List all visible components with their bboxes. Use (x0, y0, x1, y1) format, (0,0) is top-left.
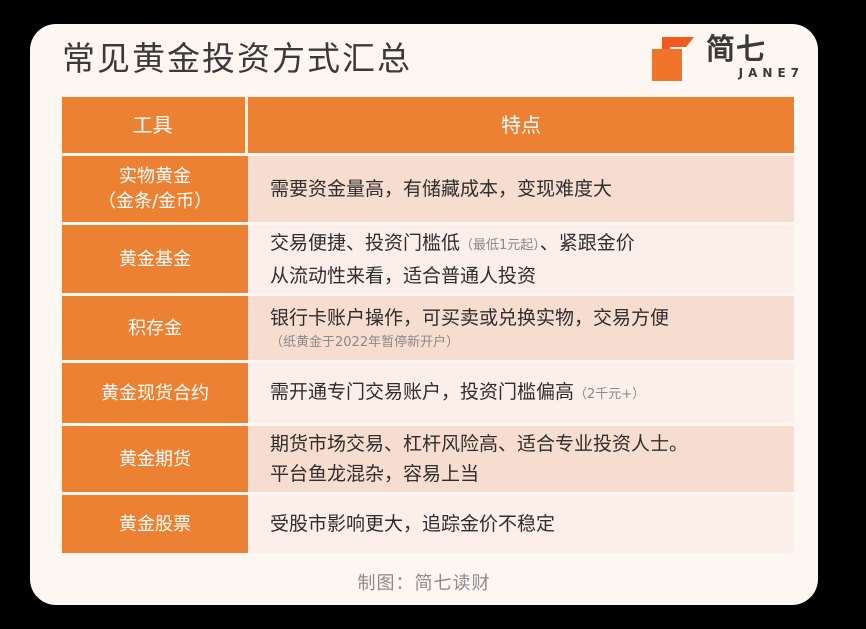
feature-line-2: 平台鱼龙混杂，容易上当 (270, 459, 794, 489)
brand-logo-text: 简七 JANE7 (706, 32, 808, 80)
feature-line-1: 银行卡账户操作，可买卖或兑换实物，交易方便 (270, 303, 794, 333)
tool-name-sub: （金条/金币） (98, 189, 212, 214)
feature-inline-note: （2千元+） (574, 387, 645, 402)
jane7-logo-mark-icon (648, 35, 700, 85)
brand-name-cn: 简七 (706, 32, 808, 66)
tool-name-cell: 黄金现货合约 (62, 363, 248, 423)
feature-note: （纸黄金于2022年暂停新开户） (270, 333, 794, 353)
table-row: 黄金现货合约 需开通专门交易账户，投资门槛偏高（2千元+） (62, 363, 794, 423)
footer-credit: 制图：简七读财 (30, 569, 818, 595)
table-row: 黄金基金 交易便捷、投资门槛低（最低1元起）、紧跟金价 从流动性来看，适合普通人… (62, 225, 794, 293)
feature-line-2: 从流动性来看，适合普通人投资 (270, 261, 794, 291)
tool-name-cell: 黄金期货 (62, 426, 248, 492)
table-row: 实物黄金 （金条/金币） 需要资金量高，有储藏成本，变现难度大 (62, 156, 794, 222)
feature-text-main: 需开通专门交易账户，投资门槛偏高 (270, 381, 574, 403)
table-header-row: 工具 特点 (62, 97, 794, 153)
investment-methods-table: 工具 特点 实物黄金 （金条/金币） 需要资金量高，有储藏成本，变现难度大 黄金… (62, 97, 794, 556)
brand-name-en: JANE7 (706, 66, 808, 80)
feature-line-1: 受股市影响更大，追踪金价不稳定 (270, 509, 794, 539)
feature-text-main: 交易便捷、投资门槛低 (270, 232, 460, 254)
feature-line-1: 交易便捷、投资门槛低（最低1元起）、紧跟金价 (270, 228, 794, 261)
tool-name: 黄金股票 (119, 512, 191, 537)
feature-inline-note: （最低1元起） (460, 238, 540, 253)
feature-cell: 受股市影响更大，追踪金价不稳定 (248, 495, 794, 553)
tool-name: 黄金现货合约 (101, 381, 209, 406)
infographic-card: 常见黄金投资方式汇总 简七 JANE7 工具 特点 实物黄金 （金条/金币） (30, 24, 818, 605)
tool-name-cell: 黄金基金 (62, 225, 248, 293)
tool-name: 积存金 (128, 316, 182, 341)
feature-cell: 银行卡账户操作，可买卖或兑换实物，交易方便 （纸黄金于2022年暂停新开户） (248, 296, 794, 360)
brand-logo: 简七 JANE7 (648, 30, 808, 92)
tool-name-cell: 黄金股票 (62, 495, 248, 553)
feature-line-1: 期货市场交易、杠杆风险高、适合专业投资人士。 (270, 429, 794, 459)
tool-name-cell: 积存金 (62, 296, 248, 360)
tool-name: 实物黄金 (119, 166, 191, 187)
header: 常见黄金投资方式汇总 简七 JANE7 (30, 24, 818, 94)
table-row: 黄金期货 期货市场交易、杠杆风险高、适合专业投资人士。 平台鱼龙混杂，容易上当 (62, 426, 794, 492)
tool-name-cell: 实物黄金 （金条/金币） (62, 156, 248, 222)
feature-line-1: 需要资金量高，有储藏成本，变现难度大 (270, 174, 794, 204)
feature-cell: 需开通专门交易账户，投资门槛偏高（2千元+） (248, 363, 794, 423)
table-row: 积存金 银行卡账户操作，可买卖或兑换实物，交易方便 （纸黄金于2022年暂停新开… (62, 296, 794, 360)
tool-name: 黄金期货 (119, 447, 191, 472)
feature-cell: 需要资金量高，有储藏成本，变现难度大 (248, 156, 794, 222)
feature-line-1: 需开通专门交易账户，投资门槛偏高（2千元+） (270, 377, 794, 410)
feature-text-tail: 、紧跟金价 (540, 232, 635, 254)
page-title: 常见黄金投资方式汇总 (62, 32, 412, 80)
tool-name: 黄金基金 (119, 247, 191, 272)
feature-cell: 期货市场交易、杠杆风险高、适合专业投资人士。 平台鱼龙混杂，容易上当 (248, 426, 794, 492)
feature-cell: 交易便捷、投资门槛低（最低1元起）、紧跟金价 从流动性来看，适合普通人投资 (248, 225, 794, 293)
table-row: 黄金股票 受股市影响更大，追踪金价不稳定 (62, 495, 794, 553)
column-header-tool: 工具 (62, 97, 248, 153)
column-header-feature: 特点 (248, 97, 794, 153)
